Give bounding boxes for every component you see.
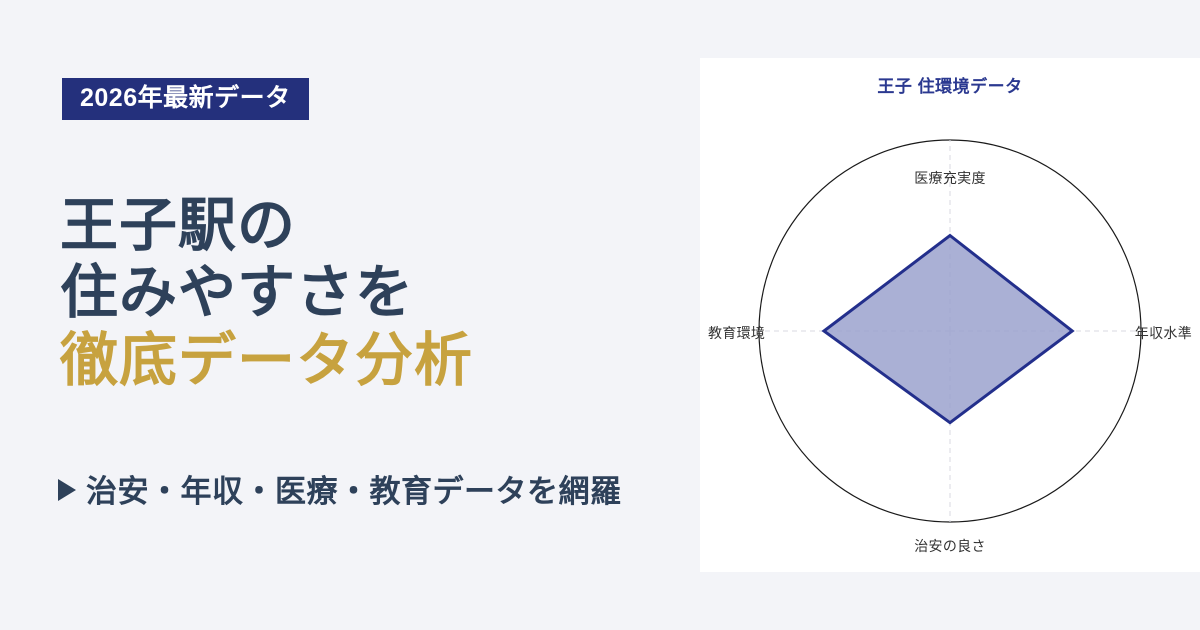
subtitle-text: 治安・年収・医療・教育データを網羅 (86, 466, 622, 511)
headline-line-3: 徹底データ分析 (60, 327, 680, 394)
status-badge: 2026年最新データ (62, 78, 309, 120)
axis-label-security: 治安の良さ (700, 536, 1200, 556)
axis-label-income: 年収水準 (1135, 323, 1192, 343)
axis-label-medical: 医療充実度 (700, 168, 1200, 188)
subtitle: 治安・年収・医療・教育データを網羅 (58, 466, 622, 511)
play-triangle-icon (58, 479, 76, 501)
radar-data-polygon (824, 236, 1072, 423)
axis-label-education: 教育環境 (708, 323, 765, 343)
chart-panel: 王子 住環境データ 医療充実度 年収水準 治安の良さ 教育環境 (700, 58, 1200, 572)
headline-line-1: 王子駅の (60, 192, 680, 259)
radar-chart-svg (700, 58, 1200, 572)
text-column: 2026年最新データ 王子駅の 住みやすさを 徹底データ分析 治安・年収・医療・… (0, 0, 700, 630)
poster-canvas: 2026年最新データ 王子駅の 住みやすさを 徹底データ分析 治安・年収・医療・… (0, 0, 1200, 630)
page-title: 王子駅の 住みやすさを 徹底データ分析 (60, 192, 680, 394)
headline-line-2: 住みやすさを (60, 259, 680, 326)
